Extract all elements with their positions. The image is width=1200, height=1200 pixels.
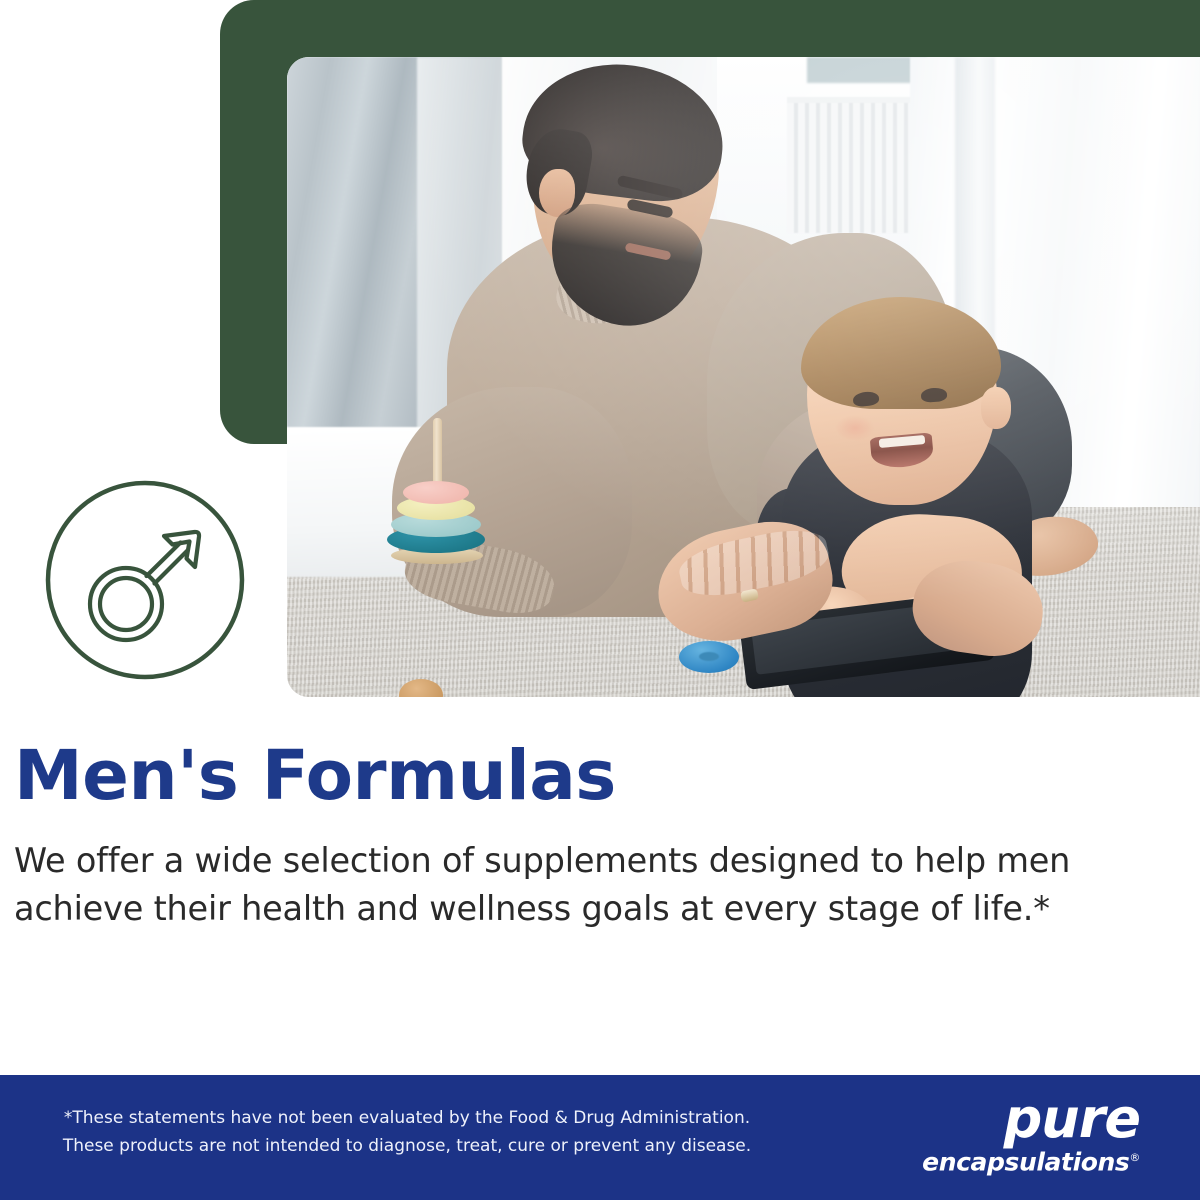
fda-disclaimer: *These statements have not been evaluate… (42, 1105, 772, 1160)
male-gender-symbol-icon (42, 477, 248, 683)
disclaimer-line-2: These products are not intended to diagn… (42, 1133, 772, 1161)
text-content: Men's Formulas We offer a wide selection… (14, 742, 1174, 932)
hero-section (0, 0, 1200, 700)
father-and-toddler-with-tablet-photo (287, 57, 1200, 697)
page-subtitle: We offer a wide selection of supplements… (14, 837, 1124, 932)
logo-secondary-text: encapsulations (922, 1147, 1129, 1176)
logo-secondary-wrap: encapsulations® (910, 1143, 1140, 1177)
pure-encapsulations-logo: pure encapsulations® (910, 1095, 1140, 1181)
disclaimer-line-1: *These statements have not been evaluate… (42, 1105, 772, 1133)
marketing-banner: Men's Formulas We offer a wide selection… (0, 0, 1200, 1200)
footer-bar: *These statements have not been evaluate… (0, 1075, 1200, 1200)
page-title: Men's Formulas (14, 742, 1174, 811)
logo-primary-text: pure (910, 1095, 1140, 1143)
registered-trademark-icon: ® (1129, 1151, 1140, 1164)
